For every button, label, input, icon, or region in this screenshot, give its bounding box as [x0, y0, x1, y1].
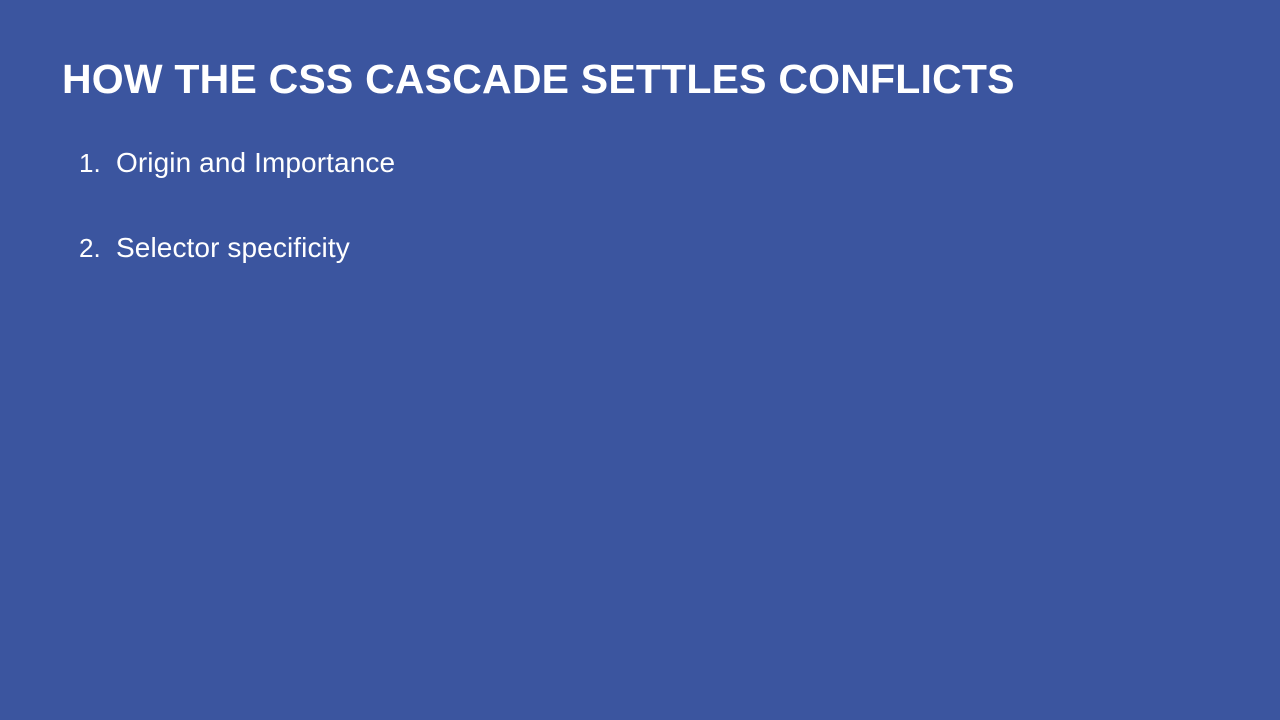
list-item-label: Selector specificity — [116, 228, 350, 268]
numbered-list: 1. Origin and Importance 2. Selector spe… — [62, 143, 1162, 313]
slide-title: How the CSS cascade settles conflicts — [62, 54, 1222, 104]
list-item: 1. Origin and Importance — [62, 143, 1162, 228]
list-item-marker: 1. — [62, 143, 116, 183]
list-item-label: Origin and Importance — [116, 143, 395, 183]
list-item-marker: 2. — [62, 228, 116, 268]
presentation-slide: How the CSS cascade settles conflicts 1.… — [0, 0, 1280, 720]
list-item: 2. Selector specificity — [62, 228, 1162, 313]
